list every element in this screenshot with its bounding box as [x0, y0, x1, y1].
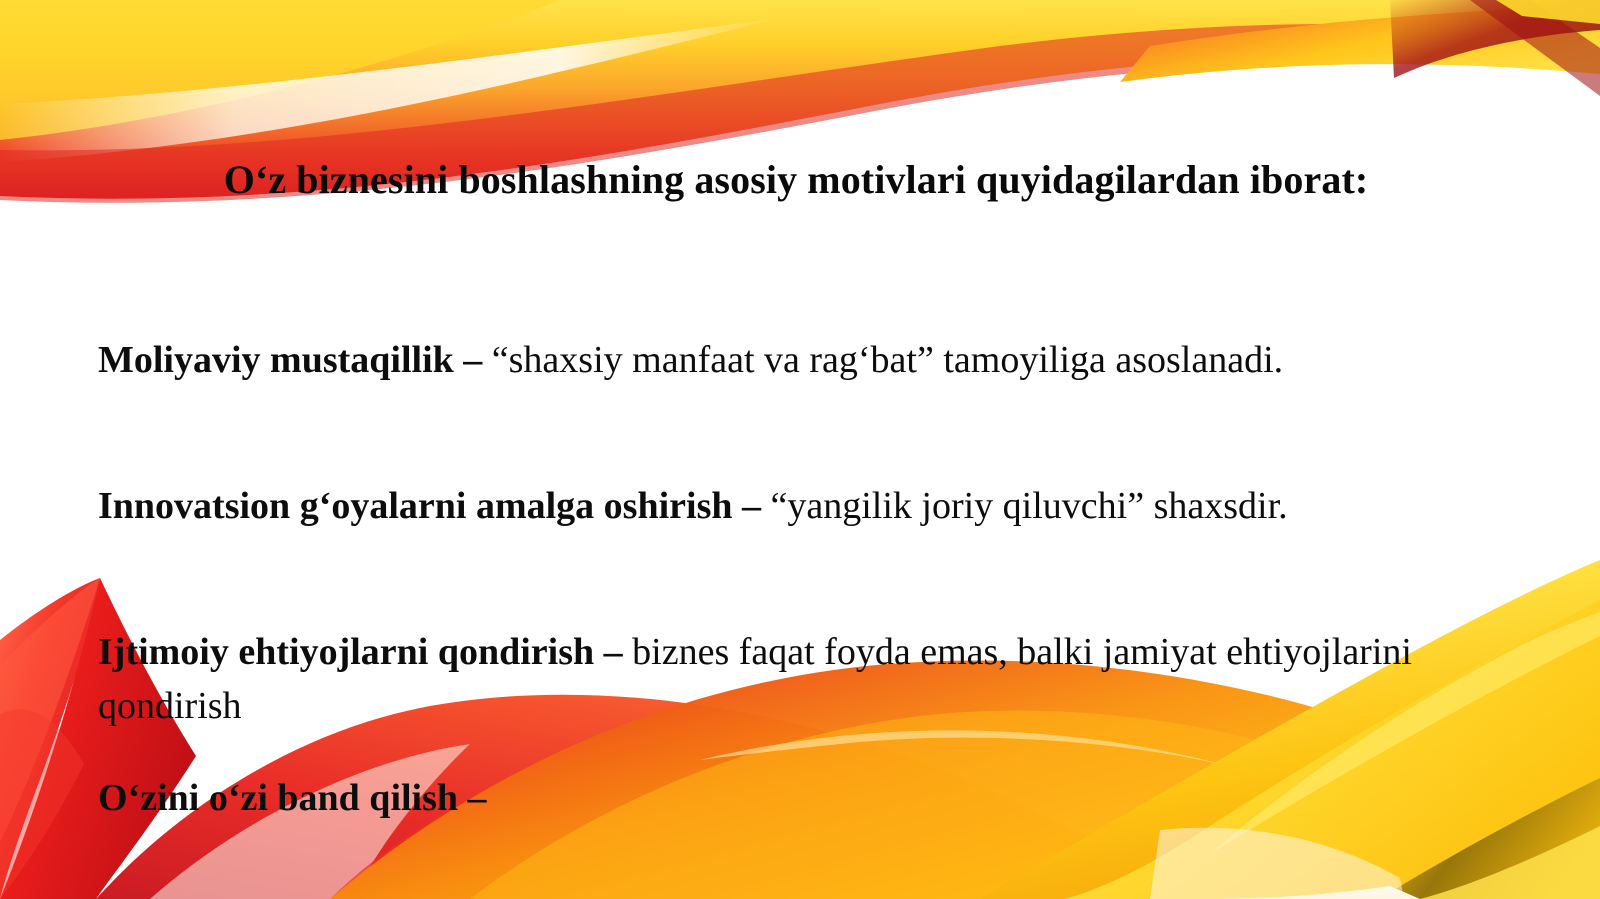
bullet-1-rest: “shaxsiy manfaat va rag‘bat” tamoyiliga … [492, 339, 1283, 381]
bullet-4-lead: O‘zini o‘zi band qilish – [98, 777, 487, 819]
presentation-slide: O‘z biznesini boshlashning asosiy motivl… [0, 0, 1600, 899]
bullet-2-lead: Innovatsion g‘oyalarni amalga oshirish – [98, 485, 771, 527]
bullet-2-rest: “yangilik joriy qiluvchi” shaxsdir. [771, 485, 1288, 527]
bullet-paragraph-1: Moliyaviy mustaqillik – “shaxsiy manfaat… [98, 334, 1498, 388]
bullet-3-lead: Ijtimoiy ehtiyojlarni qondirish – [98, 631, 632, 673]
bullet-1-lead: Moliyaviy mustaqillik – [98, 339, 492, 381]
page-title: O‘z biznesini boshlashning asosiy motivl… [96, 150, 1496, 209]
slide-content: O‘z biznesini boshlashning asosiy motivl… [0, 0, 1600, 899]
bullet-paragraph-4: O‘zini o‘zi band qilish – [98, 772, 1498, 826]
bullet-paragraph-3: Ijtimoiy ehtiyojlarni qondirish – biznes… [98, 626, 1498, 734]
bullet-paragraph-2: Innovatsion g‘oyalarni amalga oshirish –… [98, 480, 1498, 534]
